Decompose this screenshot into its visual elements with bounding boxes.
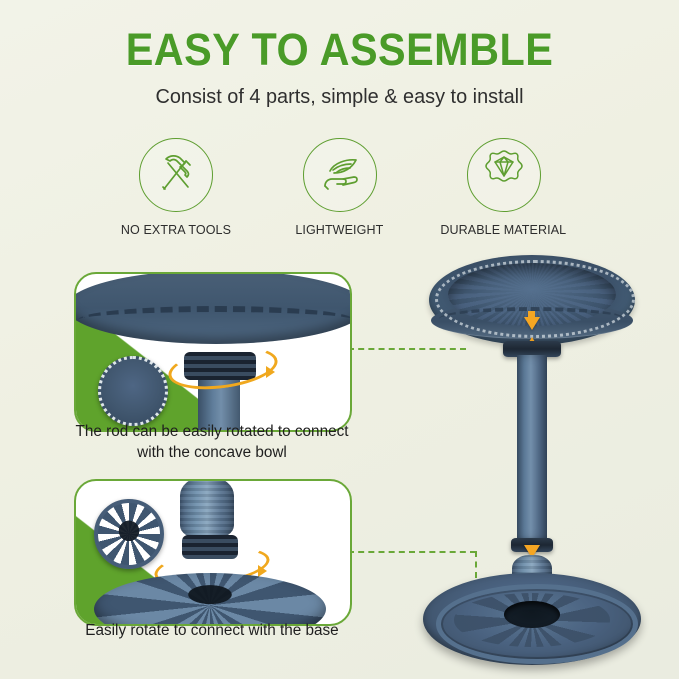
panel-caption-base: Easily rotate to connect with the base bbox=[62, 620, 362, 641]
assembly-arrow-stem bbox=[528, 311, 535, 319]
infographic-root: EASY TO ASSEMBLE Consist of 4 parts, sim… bbox=[0, 0, 679, 679]
rotation-arrow-head bbox=[258, 565, 267, 577]
product-part-rod bbox=[517, 355, 547, 540]
panel-finial bbox=[180, 479, 234, 539]
feature-no-extra-tools: NO EXTRA TOOLS bbox=[113, 138, 239, 237]
base-top-view-inset bbox=[94, 499, 164, 569]
detail-panel-base-connection[interactable] bbox=[74, 479, 352, 626]
bowl-rim-pattern bbox=[78, 306, 352, 334]
feature-durable-material: DURABLE MATERIAL bbox=[441, 138, 567, 237]
feature-label: NO EXTRA TOOLS bbox=[120, 222, 230, 237]
detail-panel-bowl-connection[interactable] bbox=[74, 272, 352, 432]
product-part-concave-bowl bbox=[429, 255, 635, 345]
bowl-top-view-inset bbox=[98, 356, 168, 426]
feature-label: LIGHTWEIGHT bbox=[295, 222, 383, 237]
feature-label: DURABLE MATERIAL bbox=[441, 222, 567, 237]
page-title: EASY TO ASSEMBLE bbox=[27, 24, 652, 76]
feature-lightweight: LIGHTWEIGHT bbox=[277, 138, 403, 237]
page-subtitle: Consist of 4 parts, simple & easy to ins… bbox=[10, 84, 669, 110]
feature-icon-circle bbox=[467, 138, 541, 212]
bird-bath-exploded-view bbox=[395, 255, 667, 665]
hammer-screwdriver-icon bbox=[152, 149, 200, 202]
base-socket-hole bbox=[504, 601, 561, 629]
feature-icon-circle bbox=[303, 138, 377, 212]
rotation-arrow-head bbox=[266, 366, 275, 378]
hand-feather-icon bbox=[316, 149, 364, 202]
panel-bowl-photo bbox=[74, 272, 352, 344]
product-part-ornate-base bbox=[423, 573, 641, 665]
panel-caption-bowl: The rod can be easily rotated to connect… bbox=[62, 421, 362, 463]
feature-list: NO EXTRA TOOLS LIGHTWEIGHT bbox=[0, 138, 679, 237]
feature-icon-circle bbox=[139, 138, 213, 212]
diamond-icon bbox=[478, 147, 530, 204]
